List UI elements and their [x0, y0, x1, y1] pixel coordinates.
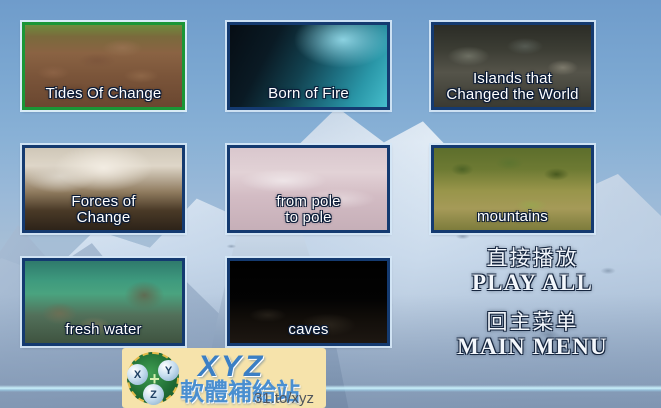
- chapter-thumbnail-fresh-water: [25, 261, 182, 343]
- chapter-thumbnail-islands-that-changed-the-world: [434, 25, 591, 107]
- xyz-plus-icon: +: [147, 372, 162, 387]
- chapter-tile-born-of-fire[interactable]: Born of Fire: [227, 22, 390, 110]
- menu-item-main-menu[interactable]: 回主菜单 MAIN MENU: [430, 310, 635, 360]
- chapter-tile-tides-of-change[interactable]: Tides Of Change: [22, 22, 185, 110]
- chapter-tile-forces-of-change[interactable]: Forces ofChange: [22, 145, 185, 233]
- dvd-menu-screen: Tides Of ChangeBorn of FireIslands thatC…: [0, 0, 661, 408]
- menu-item-play-all[interactable]: 直接播放 PLAY ALL: [430, 246, 635, 296]
- chapter-thumbnail-caves: [230, 261, 387, 343]
- chapter-thumbnail-tides-of-change: [25, 25, 182, 107]
- chapter-tile-islands-that-changed-the-world[interactable]: Islands thatChanged the World: [431, 22, 594, 110]
- play-all-label-en: PLAY ALL: [430, 270, 635, 296]
- chapter-thumbnail-forces-of-change: [25, 148, 182, 230]
- chapter-tile-caves[interactable]: caves: [227, 258, 390, 346]
- background-light-streak: [0, 385, 661, 392]
- play-all-label-cn: 直接播放: [430, 246, 635, 270]
- xyz-watermark: X Y Z + XYZ 軟體補給站 31.to/xyz: [122, 348, 326, 408]
- chapter-thumbnail-mountains: [434, 148, 591, 230]
- main-menu-label-cn: 回主菜单: [430, 310, 635, 334]
- chapter-thumbnail-from-pole-to-pole: [230, 148, 387, 230]
- chapter-tile-mountains[interactable]: mountains: [431, 145, 594, 233]
- xyz-ball-x: X: [127, 364, 148, 385]
- chapter-tile-fresh-water[interactable]: fresh water: [22, 258, 185, 346]
- main-menu-label-en: MAIN MENU: [430, 334, 635, 360]
- watermark-url: 31.to/xyz: [254, 390, 314, 407]
- side-menu: 直接播放 PLAY ALL 回主菜单 MAIN MENU: [430, 246, 635, 374]
- chapter-thumbnail-born-of-fire: [230, 25, 387, 107]
- xyz-logo-icon: X Y Z +: [127, 352, 179, 404]
- chapter-tile-from-pole-to-pole[interactable]: from poleto pole: [227, 145, 390, 233]
